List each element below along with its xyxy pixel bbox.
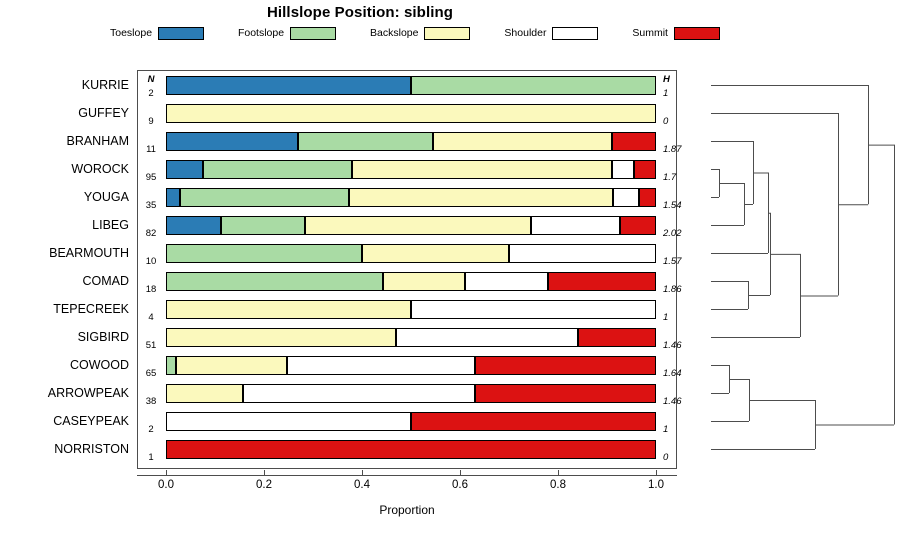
- bar-segment-summit[interactable]: [639, 188, 656, 207]
- x-tick: [166, 470, 167, 476]
- bar-segment-shoulder[interactable]: [396, 328, 577, 347]
- bar-segment-backslope[interactable]: [362, 244, 509, 263]
- bar-segment-shoulder[interactable]: [613, 188, 639, 207]
- bar-segment-summit[interactable]: [475, 356, 656, 375]
- bar-segment-summit[interactable]: [578, 328, 656, 347]
- bar-segment-summit[interactable]: [612, 132, 656, 151]
- bar-segment-shoulder[interactable]: [287, 356, 475, 375]
- bar-segment-toeslope[interactable]: [166, 76, 411, 95]
- bar-row[interactable]: [166, 160, 656, 179]
- x-tick-label: 0.4: [342, 479, 382, 491]
- bar-segment-footslope[interactable]: [298, 132, 433, 151]
- bar-row[interactable]: [166, 244, 656, 263]
- bar-segment-shoulder[interactable]: [465, 272, 548, 291]
- x-tick-label: 1.0: [636, 479, 676, 491]
- x-tick: [558, 470, 559, 476]
- bar-segment-summit[interactable]: [634, 160, 656, 179]
- bar-row[interactable]: [166, 440, 656, 459]
- x-tick: [656, 470, 657, 476]
- bar-segment-footslope[interactable]: [221, 216, 305, 235]
- chart-root: Hillslope Position: sibling ToeslopeFoot…: [0, 0, 900, 540]
- bar-segment-summit[interactable]: [166, 440, 656, 459]
- x-axis-label: Proportion: [137, 503, 677, 517]
- bar-row[interactable]: [166, 76, 656, 95]
- bar-row[interactable]: [166, 216, 656, 235]
- bar-segment-backslope[interactable]: [166, 104, 656, 123]
- bar-segment-shoulder[interactable]: [531, 216, 620, 235]
- bar-segment-backslope[interactable]: [166, 384, 243, 403]
- bar-segment-toeslope[interactable]: [166, 188, 180, 207]
- bar-segment-shoulder[interactable]: [509, 244, 656, 263]
- x-axis-line: [137, 475, 677, 476]
- bar-segment-shoulder[interactable]: [243, 384, 475, 403]
- bar-segment-shoulder[interactable]: [612, 160, 634, 179]
- bar-segment-backslope[interactable]: [166, 300, 411, 319]
- x-tick: [362, 470, 363, 476]
- bar-row[interactable]: [166, 384, 656, 403]
- bar-row[interactable]: [166, 132, 656, 151]
- bar-segment-shoulder[interactable]: [411, 300, 656, 319]
- bar-row[interactable]: [166, 356, 656, 375]
- bar-segment-summit[interactable]: [620, 216, 656, 235]
- bar-row[interactable]: [166, 412, 656, 431]
- bar-segment-summit[interactable]: [475, 384, 656, 403]
- bar-segment-summit[interactable]: [411, 412, 656, 431]
- dendrogram: [690, 60, 900, 480]
- x-tick-label: 0.8: [538, 479, 578, 491]
- bar-row[interactable]: [166, 188, 656, 207]
- bar-row[interactable]: [166, 300, 656, 319]
- x-tick-label: 0.2: [244, 479, 284, 491]
- x-tick: [460, 470, 461, 476]
- x-tick: [264, 470, 265, 476]
- bar-segment-footslope[interactable]: [411, 76, 656, 95]
- bar-segment-backslope[interactable]: [166, 328, 396, 347]
- bar-segment-backslope[interactable]: [349, 188, 613, 207]
- bar-segment-footslope[interactable]: [203, 160, 352, 179]
- bar-segment-backslope[interactable]: [352, 160, 612, 179]
- bar-segment-backslope[interactable]: [176, 356, 287, 375]
- bar-segment-backslope[interactable]: [305, 216, 531, 235]
- bar-row[interactable]: [166, 272, 656, 291]
- bar-segment-toeslope[interactable]: [166, 160, 203, 179]
- bar-segment-footslope[interactable]: [166, 272, 383, 291]
- x-tick-label: 0.0: [146, 479, 186, 491]
- bar-segment-footslope[interactable]: [180, 188, 349, 207]
- bar-row[interactable]: [166, 104, 656, 123]
- x-tick-label: 0.6: [440, 479, 480, 491]
- bar-segment-footslope[interactable]: [166, 244, 362, 263]
- bar-row[interactable]: [166, 328, 656, 347]
- bar-segment-backslope[interactable]: [433, 132, 612, 151]
- bar-segment-shoulder[interactable]: [166, 412, 411, 431]
- bar-segment-backslope[interactable]: [383, 272, 465, 291]
- bar-segment-summit[interactable]: [548, 272, 656, 291]
- bar-segment-footslope[interactable]: [166, 356, 176, 375]
- bar-segment-toeslope[interactable]: [166, 132, 298, 151]
- bar-segment-toeslope[interactable]: [166, 216, 221, 235]
